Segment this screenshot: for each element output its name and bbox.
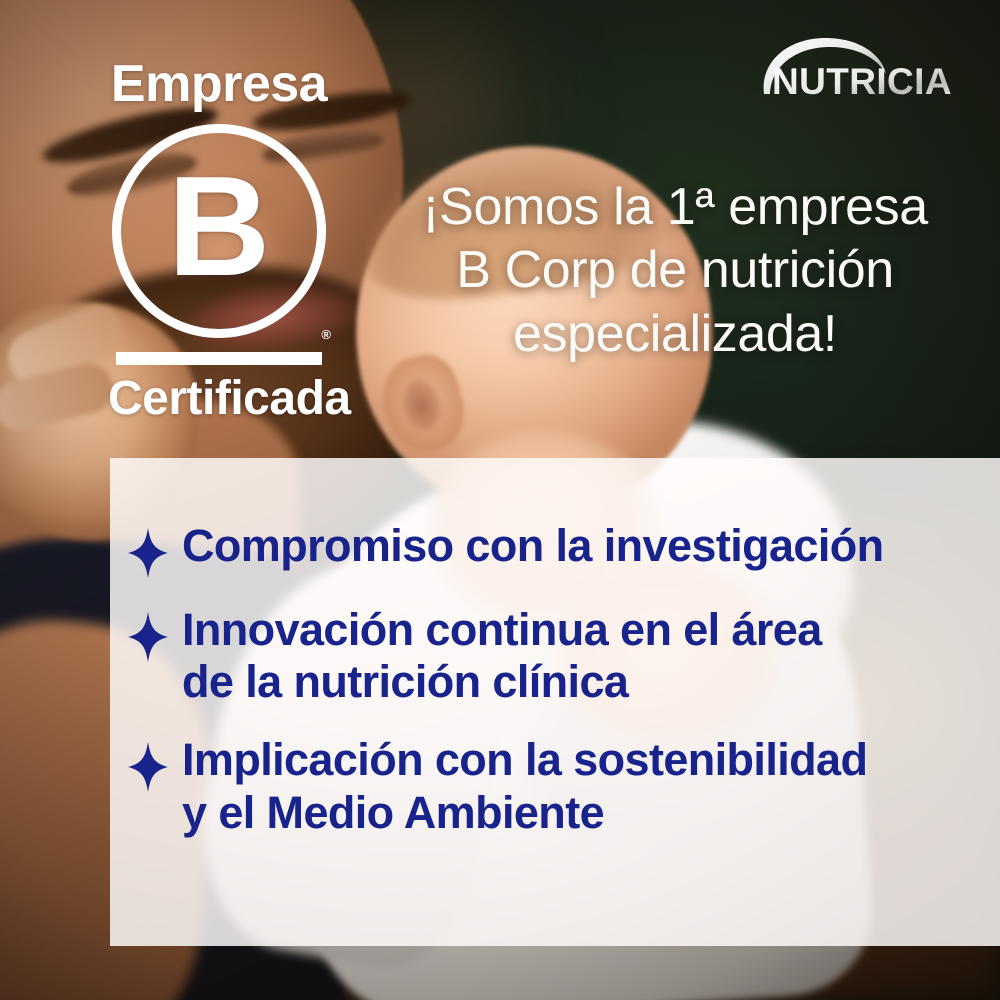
list-item: Implicación con la sostenibilidad y el M… [128,734,980,838]
four-point-star-icon [128,612,168,662]
four-point-star-icon [128,528,168,578]
benefits-list: Compromiso con la investigación Innovaci… [128,520,980,839]
bcorp-bottom-label: Certificada [108,375,330,423]
bcorp-top-label: Empresa [108,58,330,110]
list-item-text: Implicación con la sostenibilidad y el M… [182,734,867,838]
nutricia-wordmark: NUTRICIA [772,61,952,102]
bcorp-certified-badge: Empresa B ® Certificada [108,58,330,418]
nutricia-logo: NUTRICIA [754,34,964,106]
benefit-1-line-1: Compromiso con la investigación [182,520,884,572]
headline-line-1: ¡Somos la 1ª empresa [380,176,970,239]
list-item: Compromiso con la investigación [128,520,980,578]
bcorp-divider-bar [116,352,322,365]
list-item-text: Compromiso con la investigación [182,520,884,572]
list-item: Innovación continua en el área de la nut… [128,604,980,708]
bcorp-circle-icon: B ® [112,124,326,338]
benefits-panel: Compromiso con la investigación Innovaci… [110,458,1000,946]
bcorp-letter-b: B [168,172,271,283]
benefit-3-line-1: Implicación con la sostenibilidad [182,734,867,786]
headline-line-3: especializada! [380,303,970,366]
registered-trademark-icon: ® [321,328,331,341]
list-item-text: Innovación continua en el área de la nut… [182,604,822,708]
four-point-star-icon [128,742,168,792]
benefit-2-line-1: Innovación continua en el área [182,604,822,656]
headline: ¡Somos la 1ª empresa B Corp de nutrición… [380,176,970,366]
benefit-2-line-2: de la nutrición clínica [182,656,822,708]
benefit-3-line-2: y el Medio Ambiente [182,787,867,839]
headline-line-2: B Corp de nutrición [380,239,970,302]
poster-canvas: Empresa B ® Certificada NUTRICIA ¡So [0,0,1000,1000]
